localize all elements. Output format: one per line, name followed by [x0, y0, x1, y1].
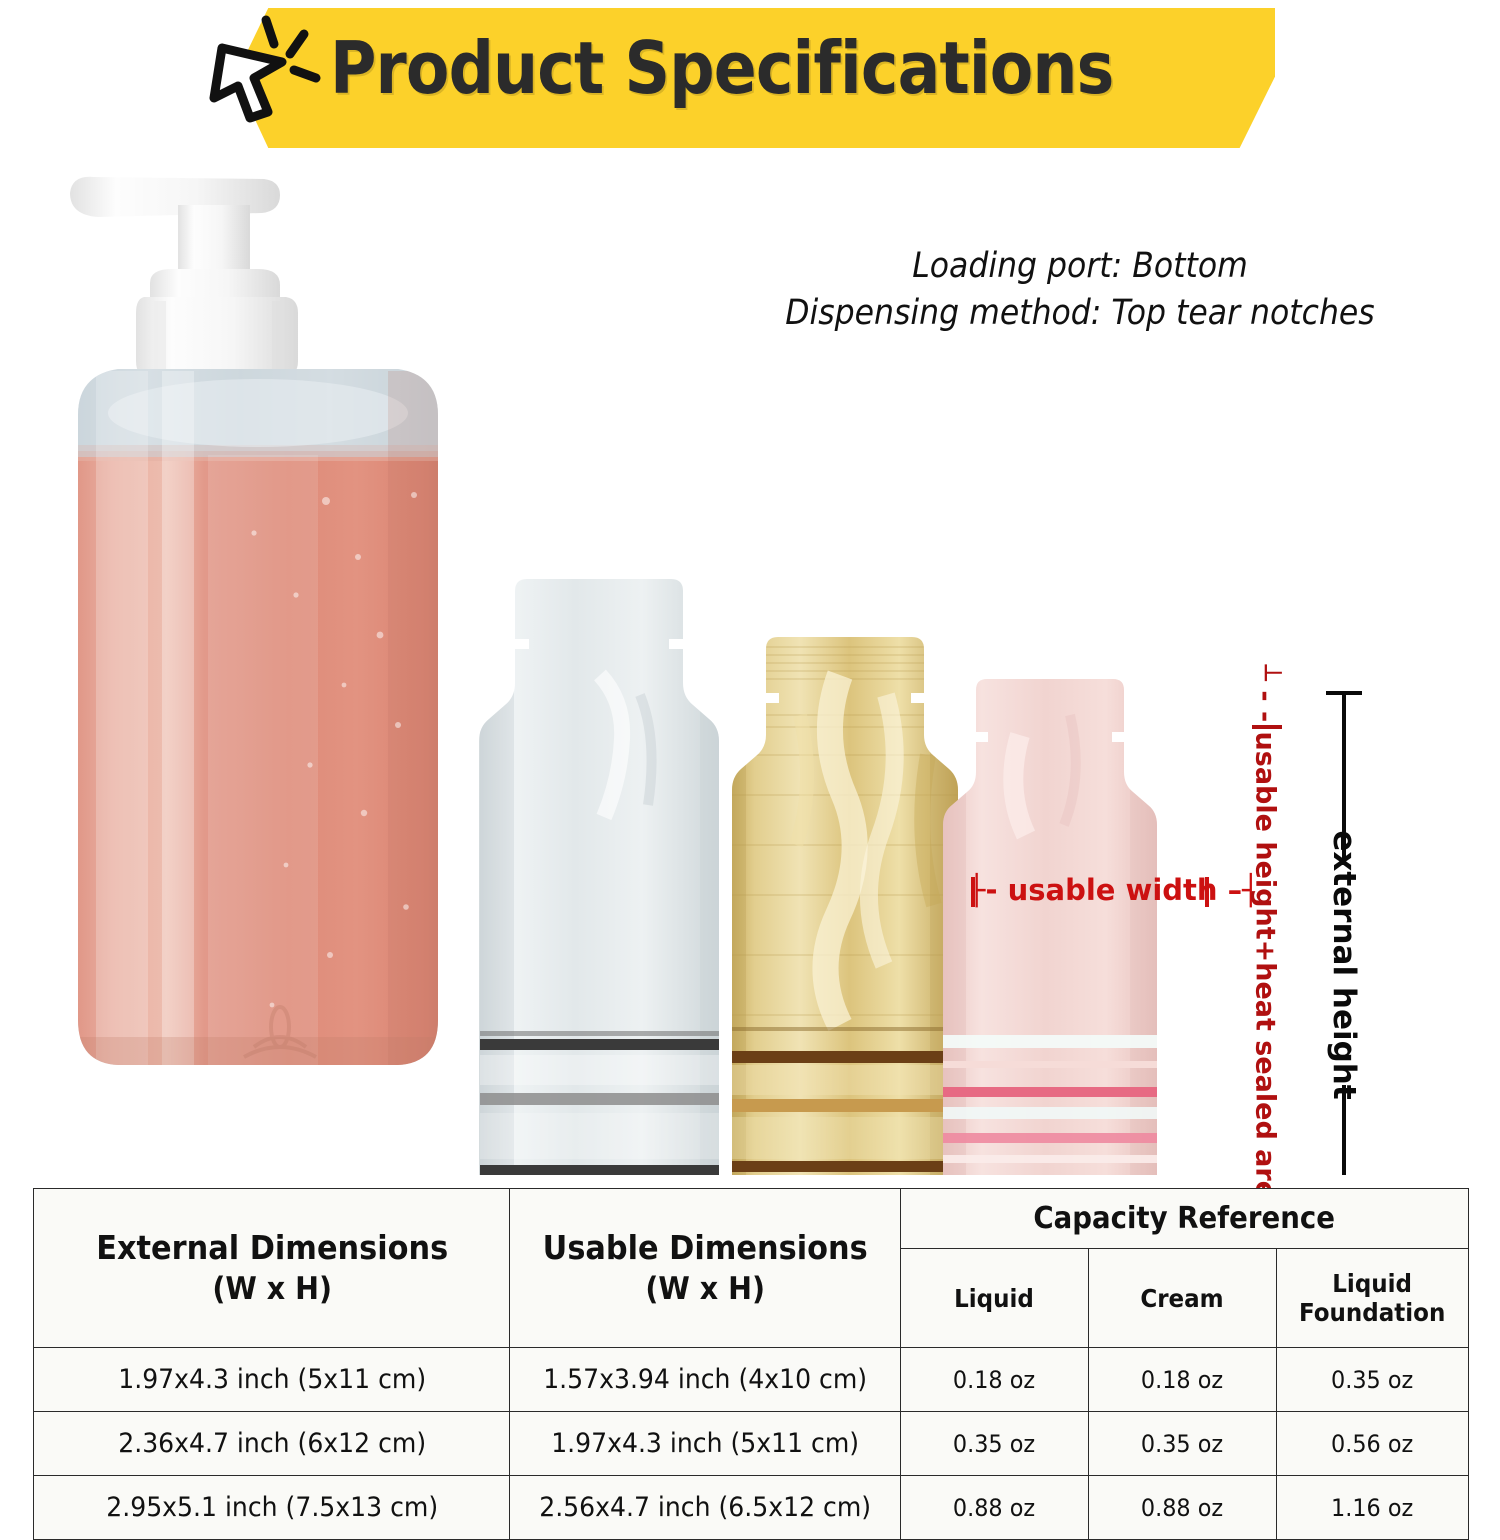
table-header-row-1: External Dimensions (W x H) Usable Dimen…: [34, 1189, 1469, 1249]
cell-external-2: 2.95x5.1 inch (7.5x13 cm): [50, 1476, 493, 1540]
gold-pouch: [720, 637, 970, 1175]
header-liquid: Liquid: [908, 1249, 1081, 1348]
header-external-dimensions-line2: (W x H): [59, 1269, 485, 1310]
spec-table-container: External Dimensions (W x H) Usable Dimen…: [33, 1188, 1469, 1540]
header-external-dimensions-line1: External Dimensions: [59, 1226, 485, 1270]
cell-cream-1: 0.35 oz: [1095, 1412, 1270, 1476]
page-title: Product Specifications: [330, 26, 1104, 110]
cell-foundation-0: 0.35 oz: [1283, 1348, 1462, 1412]
header-liquid-foundation: Liquid Foundation: [1284, 1249, 1461, 1348]
header-banner: Product Specifications: [0, 0, 1500, 160]
table-row: 1.97x4.3 inch (5x11 cm) 1.57x3.94 inch (…: [34, 1348, 1469, 1412]
cell-external-0: 1.97x4.3 inch (5x11 cm): [50, 1348, 493, 1412]
cell-liquid-0: 0.18 oz: [907, 1348, 1082, 1412]
product-illustration-area: Loading port: Bottom Dispensing method: …: [0, 155, 1500, 1175]
white-pouch: [479, 579, 760, 1175]
pink-pouch: [940, 679, 1180, 1175]
header-cream: Cream: [1096, 1249, 1269, 1348]
usable-height-label: ┴ - - usable height+heat sealed area - -…: [1238, 715, 1292, 1245]
cell-foundation-2: 1.16 oz: [1283, 1476, 1462, 1540]
header-capacity-reference: Capacity Reference: [923, 1189, 1446, 1249]
cell-external-1: 2.36x4.7 inch (6x12 cm): [50, 1412, 493, 1476]
cell-liquid-1: 0.35 oz: [907, 1412, 1082, 1476]
cell-usable-0: 1.57x3.94 inch (4x10 cm): [524, 1348, 887, 1412]
spec-table: External Dimensions (W x H) Usable Dimen…: [33, 1188, 1469, 1540]
cell-cream-0: 0.18 oz: [1095, 1348, 1270, 1412]
table-row: 2.95x5.1 inch (7.5x13 cm) 2.56x4.7 inch …: [34, 1476, 1469, 1540]
header-usable-dimensions-line2: (W x H): [531, 1269, 878, 1310]
external-height-text: external height: [1326, 830, 1362, 1099]
cell-usable-1: 1.97x4.3 inch (5x11 cm): [524, 1412, 887, 1476]
cell-usable-2: 2.56x4.7 inch (6.5x12 cm): [524, 1476, 887, 1540]
cell-cream-2: 0.88 oz: [1095, 1476, 1270, 1540]
table-row: 2.36x4.7 inch (6x12 cm) 1.97x4.3 inch (5…: [34, 1412, 1469, 1476]
cell-liquid-2: 0.88 oz: [907, 1476, 1082, 1540]
header-usable-dimensions: Usable Dimensions (W x H): [526, 1189, 885, 1348]
cursor-click-icon: [196, 12, 336, 132]
header-external-dimensions: External Dimensions (W x H): [53, 1189, 491, 1348]
header-usable-dimensions-line1: Usable Dimensions: [531, 1226, 878, 1270]
cell-foundation-1: 0.56 oz: [1283, 1412, 1462, 1476]
usable-width-label: ├- usable width –┤: [968, 873, 1260, 907]
external-height-label: external height: [1312, 680, 1376, 1250]
